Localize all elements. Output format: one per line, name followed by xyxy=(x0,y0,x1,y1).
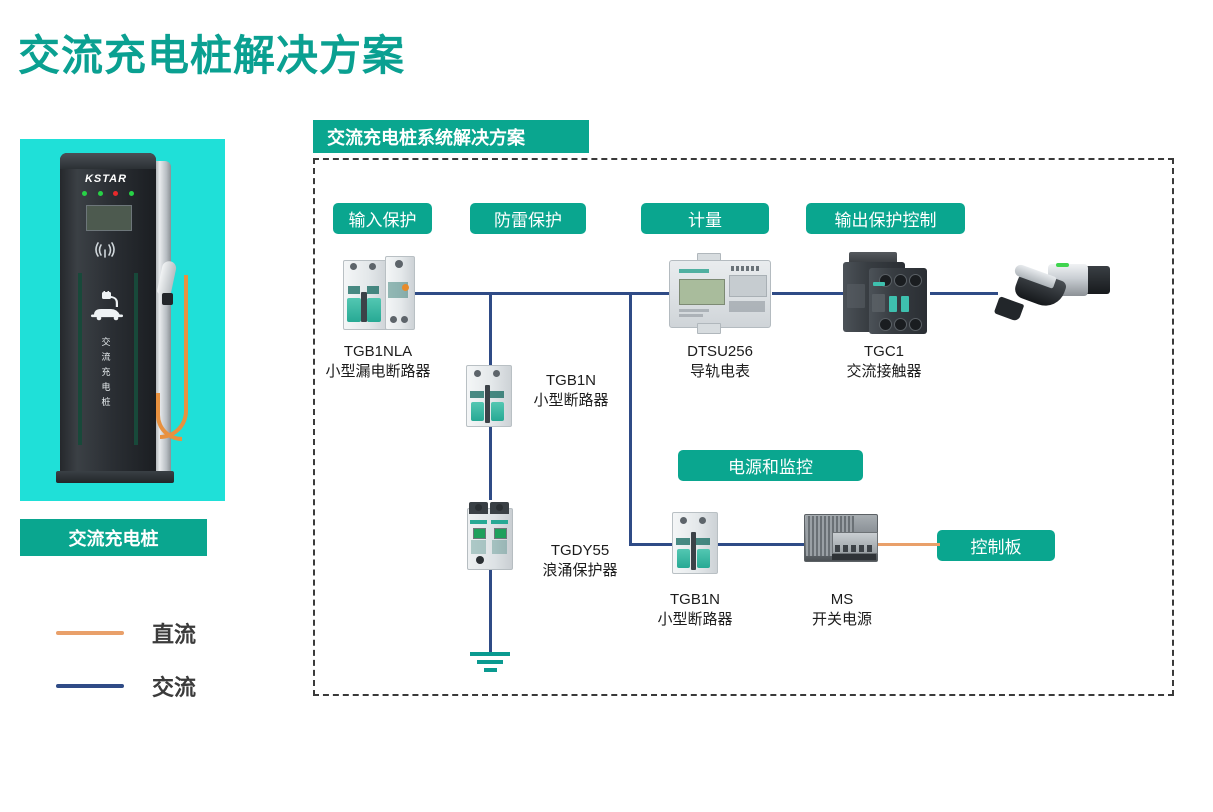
contactor-indicator-2 xyxy=(901,296,909,312)
rcbo-terminal-5 xyxy=(401,316,408,323)
pile-light-strip-right xyxy=(134,273,138,445)
mcb-upper-terminal-2 xyxy=(493,370,500,377)
caption-name: 小型断路器 xyxy=(506,391,636,411)
rcbo-brand-marking-left xyxy=(348,286,360,294)
mcb-upper-gap xyxy=(485,385,490,423)
mcb-lower-gap xyxy=(691,532,696,570)
rcbo-terminal-1 xyxy=(350,263,357,270)
caption-name: 浪涌保护器 xyxy=(520,561,640,581)
ground-bar-3 xyxy=(484,668,497,672)
contactor-brand-band xyxy=(873,282,885,286)
meter-led-3 xyxy=(741,266,744,271)
meter-spec-line-1 xyxy=(679,309,709,312)
caption-model: TGB1N xyxy=(506,371,636,391)
wire-dc-power-supply-to-control-board xyxy=(876,543,940,546)
rcbo-lever-2[interactable] xyxy=(367,298,381,322)
rfid-wave-icon xyxy=(92,239,120,261)
led-green-1 xyxy=(82,191,87,196)
contactor-indicator-1 xyxy=(889,296,897,312)
stage-badge-power-and-monitoring: 电源和监控 xyxy=(678,450,863,481)
stage-badge-control-board: 控制板 xyxy=(937,530,1055,561)
diagram-section-header: 交流充电桩系统解决方案 xyxy=(313,120,589,153)
component-ev-charging-gun xyxy=(994,256,1110,336)
mcb-lower-lever-1[interactable] xyxy=(677,549,690,568)
component-mcb-tgb1n-lower xyxy=(672,512,718,574)
caption-model: TGC1 xyxy=(822,342,946,362)
led-red-1 xyxy=(113,191,118,196)
caption-name: 开关电源 xyxy=(790,610,894,630)
wire-ac-contactor-to-gun xyxy=(930,292,998,295)
ps-screw-3 xyxy=(851,545,856,552)
ps-screw-2 xyxy=(843,545,848,552)
spd-bottom-terminal xyxy=(476,556,484,564)
mcb-lower-marking-1 xyxy=(676,538,690,545)
meter-led-1 xyxy=(731,266,734,271)
meter-led-6 xyxy=(756,266,759,271)
contactor-terminal-top-3 xyxy=(909,274,922,287)
component-meter-dtsu256 xyxy=(669,253,773,339)
caption-mcb-tgb1n-lower: TGB1N 小型断路器 xyxy=(625,590,765,630)
legend-ac: 交流 xyxy=(56,670,196,702)
mcb-upper-marking-1 xyxy=(470,391,484,398)
contactor-nameplate xyxy=(872,294,885,312)
caption-power-supply-ms: MS 开关电源 xyxy=(790,590,894,630)
contactor-terminal-bottom-3 xyxy=(909,318,922,331)
ps-screw-1 xyxy=(835,545,840,552)
rcbo-module-gap xyxy=(361,292,367,322)
ground-bar-1 xyxy=(470,652,510,656)
caption-mcb-tgb1n-upper: TGB1N 小型断路器 xyxy=(506,371,636,411)
wire-ac-branch-to-aux xyxy=(629,292,632,546)
caption-spd-tgdy55: TGDY55 浪涌保护器 xyxy=(520,541,640,581)
contactor-terminal-top-2 xyxy=(894,274,907,287)
meter-terminal-legend xyxy=(729,275,767,297)
meter-led-indicators xyxy=(731,266,759,271)
caption-model: TGB1NLA xyxy=(283,342,473,362)
stage-badge-input-protection: 输入保护 xyxy=(333,203,432,234)
ground-bar-2 xyxy=(477,660,503,664)
meter-lcd-display xyxy=(679,279,725,305)
rcbo-terminal-4 xyxy=(390,316,397,323)
spd-knob-2 xyxy=(496,504,503,511)
caption-meter-dtsu256: DTSU256 导轨电表 xyxy=(650,342,790,382)
gun-status-led xyxy=(1056,263,1069,267)
spd-brand-band-1 xyxy=(470,520,487,524)
component-power-supply-ms xyxy=(804,514,880,572)
wire-ac-mcb-to-power-supply xyxy=(716,543,806,546)
caption-name: 交流接触器 xyxy=(822,362,946,382)
wire-ac-meter-to-contactor xyxy=(772,292,844,295)
caption-contactor-tgc1: TGC1 交流接触器 xyxy=(822,342,946,382)
meter-terminal-numbers xyxy=(729,301,765,312)
meter-spec-line-2 xyxy=(679,314,703,317)
mcb-upper-marking-2 xyxy=(490,391,504,398)
mcb-lower-marking-2 xyxy=(696,538,710,545)
stage-badge-output-protection-control: 输出保护控制 xyxy=(806,203,965,234)
caption-name: 导轨电表 xyxy=(650,362,790,382)
mcb-upper-lever-1[interactable] xyxy=(471,402,484,421)
legend-dc-swatch xyxy=(56,631,124,635)
contactor-terminal-bottom-1 xyxy=(879,318,892,331)
component-contactor-tgc1 xyxy=(843,252,931,336)
contactor-coil-label xyxy=(847,284,865,308)
contactor-terminal-bottom-2 xyxy=(894,318,907,331)
caption-model: TGDY55 xyxy=(520,541,640,561)
rcbo-brand-marking-right xyxy=(367,286,379,294)
legend-dc: 直流 xyxy=(56,617,196,649)
rcbo-terminal-3 xyxy=(395,260,403,268)
legend-ac-swatch xyxy=(56,684,124,688)
ev-charging-icon xyxy=(86,291,130,321)
mcb-upper-terminal-1 xyxy=(474,370,481,377)
meter-led-2 xyxy=(736,266,739,271)
pile-holstered-gun-tip xyxy=(162,293,173,305)
pile-base-plate xyxy=(56,471,174,483)
mcb-lower-terminal-1 xyxy=(680,517,687,524)
product-photo-ac-charging-pile: KSTAR xyxy=(20,139,225,501)
caption-name: 小型断路器 xyxy=(625,610,765,630)
spd-brand-band-2 xyxy=(491,520,508,524)
rcbo-test-button[interactable] xyxy=(402,284,409,291)
wire-ac-spd-to-ground xyxy=(489,568,492,654)
mcb-lower-terminal-2 xyxy=(699,517,706,524)
rcbo-terminal-2 xyxy=(369,263,376,270)
spd-rating-text-2 xyxy=(492,540,507,554)
charging-pile-illustration: KSTAR xyxy=(56,153,161,483)
ps-screw-5 xyxy=(867,545,872,552)
spd-status-window-2 xyxy=(494,528,507,539)
legend-ac-label: 交流 xyxy=(152,670,196,702)
led-green-3 xyxy=(129,191,134,196)
rcbo-lever-1[interactable] xyxy=(347,298,361,322)
caption-model: DTSU256 xyxy=(650,342,790,362)
pile-display-screen xyxy=(86,205,132,231)
caption-rcbo-tgb1nla: TGB1NLA 小型漏电断路器 xyxy=(283,342,473,382)
led-green-2 xyxy=(98,191,103,196)
page-title: 交流充电桩解决方案 xyxy=(18,22,405,83)
stage-badge-metering: 计量 xyxy=(641,203,769,234)
ground-symbol xyxy=(470,652,510,676)
spd-knob-1 xyxy=(475,504,482,511)
product-caption-badge: 交流充电桩 xyxy=(20,519,207,556)
meter-brand-band xyxy=(679,269,709,273)
legend-dc-label: 直流 xyxy=(152,617,196,649)
ps-screw-4 xyxy=(859,545,864,552)
gun-nose-tip xyxy=(994,296,1025,322)
mcb-lower-lever-2[interactable] xyxy=(697,549,710,568)
pile-vertical-label: 交流充电桩 xyxy=(92,335,120,410)
meter-din-clip-bottom xyxy=(697,323,721,334)
meter-led-5 xyxy=(751,266,754,271)
power-supply-base-edge xyxy=(832,554,876,560)
pile-top-cap xyxy=(60,153,156,169)
pile-status-leds xyxy=(82,191,134,196)
spd-body xyxy=(467,508,513,570)
pile-brand-label: KSTAR xyxy=(56,173,156,185)
pile-light-strip-left xyxy=(78,273,82,445)
component-rcbo-tgb1nla xyxy=(343,252,413,336)
wire-ac-branch-to-mcb xyxy=(489,292,492,366)
caption-model: TGB1N xyxy=(625,590,765,610)
mcb-upper-lever-2[interactable] xyxy=(491,402,504,421)
spd-rating-text-1 xyxy=(471,540,486,554)
meter-led-4 xyxy=(746,266,749,271)
wire-ac-mcb-to-spd xyxy=(489,424,492,500)
spd-status-window-1 xyxy=(473,528,486,539)
caption-name: 小型漏电断路器 xyxy=(283,362,473,382)
power-supply-terminal-screws xyxy=(835,545,872,552)
component-spd-tgdy55 xyxy=(467,500,513,570)
caption-model: MS xyxy=(790,590,894,610)
stage-badge-lightning-protection: 防雷保护 xyxy=(470,203,586,234)
